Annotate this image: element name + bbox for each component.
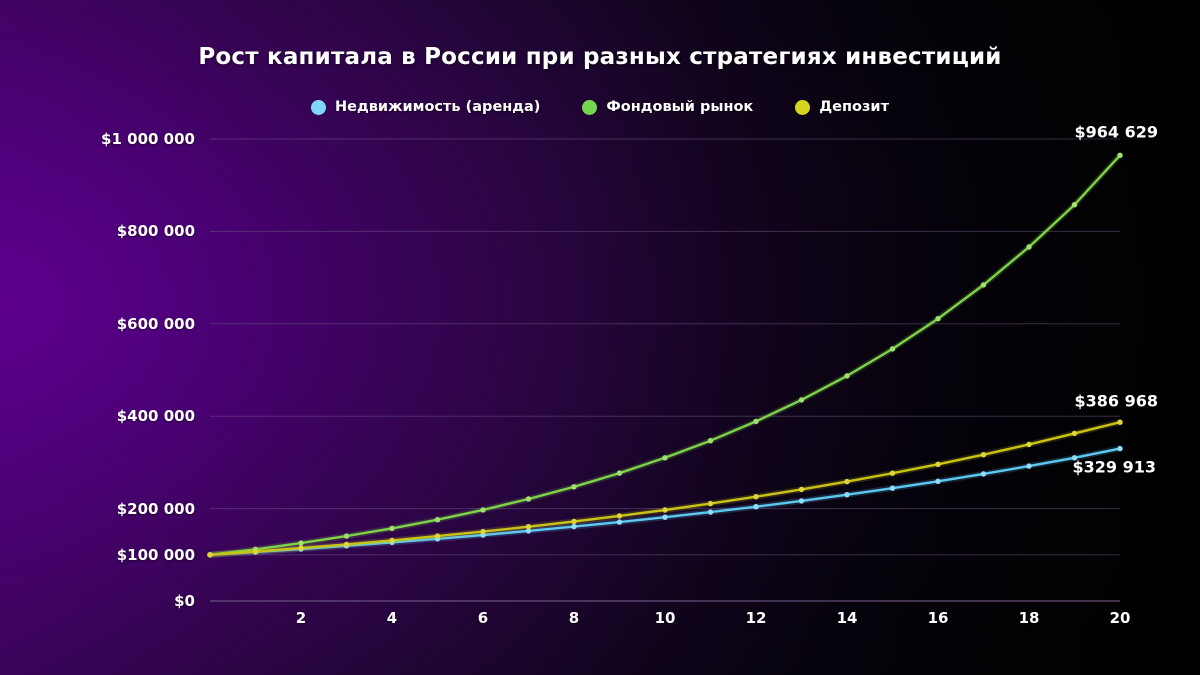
data-point-real-estate-14[interactable] xyxy=(844,492,849,497)
legend-label-real-estate: Недвижимость (аренда) xyxy=(335,99,540,115)
data-point-stock-market-12[interactable] xyxy=(753,419,758,424)
data-point-deposit-13[interactable] xyxy=(799,487,804,492)
data-point-real-estate-11[interactable] xyxy=(708,509,713,514)
data-point-deposit-2[interactable] xyxy=(298,545,303,550)
data-point-stock-market-3[interactable] xyxy=(344,533,349,538)
data-point-real-estate-17[interactable] xyxy=(981,471,986,476)
data-point-stock-market-4[interactable] xyxy=(389,526,394,531)
data-point-stock-market-16[interactable] xyxy=(935,316,940,321)
data-point-deposit-19[interactable] xyxy=(1072,431,1077,436)
data-point-real-estate-10[interactable] xyxy=(662,515,667,520)
data-point-deposit-5[interactable] xyxy=(435,533,440,538)
series-line-stock-market[interactable] xyxy=(210,155,1120,555)
data-point-stock-market-17[interactable] xyxy=(981,282,986,287)
chart-title: Рост капитала в России при разных страте… xyxy=(0,44,1200,70)
data-point-stock-market-9[interactable] xyxy=(617,470,622,475)
legend-item-real-estate[interactable]: Недвижимость (аренда) xyxy=(311,99,540,115)
chart-legend: Недвижимость (аренда) Фондовый рынок Деп… xyxy=(0,99,1200,115)
data-point-real-estate-20[interactable] xyxy=(1117,446,1122,451)
legend-item-stock-market[interactable]: Фондовый рынок xyxy=(582,99,753,115)
data-point-stock-market-5[interactable] xyxy=(435,517,440,522)
data-point-deposit-3[interactable] xyxy=(344,542,349,547)
data-point-deposit-16[interactable] xyxy=(935,462,940,467)
legend-label-deposit: Депозит xyxy=(819,99,889,115)
data-point-real-estate-19[interactable] xyxy=(1072,455,1077,460)
data-point-deposit-18[interactable] xyxy=(1026,442,1031,447)
legend-swatch-stock-market xyxy=(582,100,597,115)
legend-swatch-real-estate xyxy=(311,100,326,115)
data-point-deposit-11[interactable] xyxy=(708,501,713,506)
data-point-real-estate-12[interactable] xyxy=(753,504,758,509)
data-point-deposit-12[interactable] xyxy=(753,494,758,499)
data-point-deposit-10[interactable] xyxy=(662,507,667,512)
legend-swatch-deposit xyxy=(795,100,810,115)
legend-label-stock-market: Фондовый рынок xyxy=(606,99,753,115)
legend-item-deposit[interactable]: Депозит xyxy=(795,99,889,115)
data-point-stock-market-19[interactable] xyxy=(1072,202,1077,207)
data-point-deposit-1[interactable] xyxy=(253,549,258,554)
data-point-deposit-4[interactable] xyxy=(389,538,394,543)
data-point-deposit-15[interactable] xyxy=(890,471,895,476)
series-glow-stock-market xyxy=(210,155,1120,555)
data-point-stock-market-13[interactable] xyxy=(799,397,804,402)
data-point-deposit-7[interactable] xyxy=(526,524,531,529)
data-point-deposit-8[interactable] xyxy=(571,519,576,524)
data-point-stock-market-15[interactable] xyxy=(890,346,895,351)
chart-canvas: Рост капитала в России при разных страте… xyxy=(0,0,1200,675)
data-point-real-estate-13[interactable] xyxy=(799,498,804,503)
data-point-stock-market-18[interactable] xyxy=(1026,244,1031,249)
data-point-deposit-20[interactable] xyxy=(1117,420,1122,425)
data-point-real-estate-16[interactable] xyxy=(935,479,940,484)
data-point-deposit-6[interactable] xyxy=(480,529,485,534)
data-point-deposit-9[interactable] xyxy=(617,513,622,518)
data-point-real-estate-15[interactable] xyxy=(890,486,895,491)
data-point-stock-market-6[interactable] xyxy=(480,507,485,512)
data-point-deposit-0[interactable] xyxy=(207,552,212,557)
data-point-real-estate-18[interactable] xyxy=(1026,463,1031,468)
data-point-stock-market-8[interactable] xyxy=(571,484,576,489)
data-point-stock-market-11[interactable] xyxy=(708,438,713,443)
data-point-real-estate-9[interactable] xyxy=(617,519,622,524)
data-point-stock-market-20[interactable] xyxy=(1117,153,1122,158)
data-point-deposit-14[interactable] xyxy=(844,479,849,484)
data-point-stock-market-14[interactable] xyxy=(844,373,849,378)
data-point-stock-market-10[interactable] xyxy=(662,455,667,460)
data-point-deposit-17[interactable] xyxy=(981,452,986,457)
data-point-stock-market-7[interactable] xyxy=(526,496,531,501)
